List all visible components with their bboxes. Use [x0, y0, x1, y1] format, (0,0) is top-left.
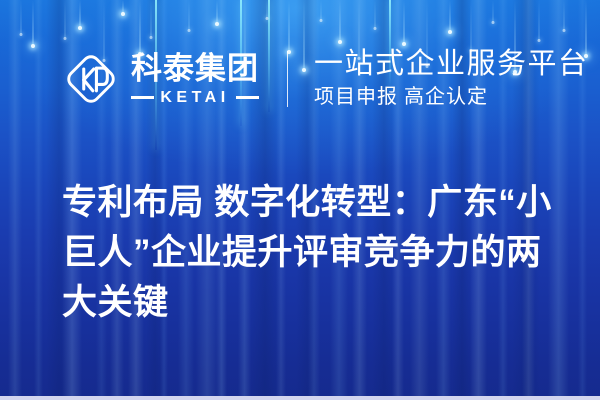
bottom-accent-strip: [0, 396, 600, 400]
falling-particle-17: [372, 0, 378, 28]
ketai-diamond-monogram-icon: [62, 50, 120, 108]
particle-tail: [267, 0, 268, 18]
particle-dot: [448, 30, 452, 34]
particle-dot: [338, 40, 342, 44]
promo-banner: 科泰集团 KETAI 一站式企业服务平台 项目申报 高企认定 专利布局 数字化转…: [0, 0, 600, 400]
falling-particle-15: [337, 0, 343, 42]
particle-tail: [151, 0, 152, 37]
brand-name-cn: 科泰集团: [131, 53, 259, 86]
falling-particle-25: [561, 0, 567, 30]
falling-particle-12: [286, 0, 292, 52]
particle-tail: [140, 0, 141, 54]
particle-dot: [31, 44, 35, 48]
particle-dot: [538, 39, 541, 42]
particle-tail: [80, 0, 81, 28]
falling-particle-0: [18, 0, 24, 34]
tagline-primary: 一站式企业服务平台: [314, 48, 589, 80]
particle-tail: [65, 0, 66, 38]
particle-dot: [20, 33, 23, 36]
falling-particle-9: [214, 0, 220, 24]
tagline-secondary: 项目申报 高企认定: [314, 85, 589, 110]
brand-name-en: KETAI: [160, 90, 229, 106]
falling-particle-5: [120, 0, 126, 14]
particle-dot: [374, 27, 377, 30]
wordmark-rule-right: [236, 96, 259, 99]
particle-dot: [563, 29, 566, 32]
particle-tail: [564, 0, 565, 30]
particle-tail: [539, 0, 540, 40]
particle-dot: [150, 36, 153, 39]
falling-particle-3: [77, 0, 83, 28]
brand-tagline: 一站式企业服务平台 项目申报 高企认定: [314, 48, 589, 110]
falling-particle-22: [490, 0, 496, 22]
particle-tail: [123, 0, 124, 14]
particle-tail: [33, 0, 34, 46]
falling-particle-6: [137, 0, 143, 54]
falling-particle-24: [536, 0, 542, 40]
brand-wordmark: 科泰集团 KETAI: [131, 53, 259, 106]
banner-header: 科泰集团 KETAI 一站式企业服务平台 项目申报 高企认定: [62, 48, 589, 110]
particle-tail: [217, 0, 218, 24]
falling-particle-11: [264, 0, 270, 18]
particle-dot: [78, 26, 82, 30]
particle-tail: [404, 0, 405, 44]
particle-tail: [450, 0, 451, 32]
falling-particle-14: [318, 0, 324, 20]
brand-name-en-row: KETAI: [131, 90, 259, 106]
particle-tail: [471, 0, 472, 50]
particle-dot: [215, 22, 219, 26]
falling-particle-1: [30, 0, 36, 46]
falling-particle-21: [468, 0, 474, 50]
header-divider: [287, 51, 288, 107]
falling-particle-2: [62, 0, 68, 38]
falling-particle-8: [186, 0, 192, 30]
particle-dot: [188, 29, 191, 32]
particle-tail: [493, 0, 494, 22]
falling-particle-18: [401, 0, 407, 44]
falling-particle-20: [447, 0, 453, 32]
particle-tail: [289, 0, 290, 52]
banner-headline: 专利布局 数字化转型：广东“小巨人”企业提升评审竞争力的两大关键: [62, 178, 562, 327]
particle-tail: [321, 0, 322, 20]
particle-tail: [189, 0, 190, 30]
particle-tail: [21, 0, 22, 34]
particle-tail: [340, 0, 341, 42]
particle-dot: [64, 37, 67, 40]
particle-dot: [402, 42, 406, 46]
brand-logo[interactable]: 科泰集团 KETAI: [62, 50, 259, 108]
particle-dot: [266, 17, 269, 20]
particle-tail: [375, 0, 376, 28]
wordmark-rule-left: [131, 96, 154, 99]
particle-dot: [320, 19, 323, 22]
particle-dot: [121, 12, 125, 16]
particle-dot: [492, 21, 495, 24]
falling-particle-7: [148, 0, 154, 37]
